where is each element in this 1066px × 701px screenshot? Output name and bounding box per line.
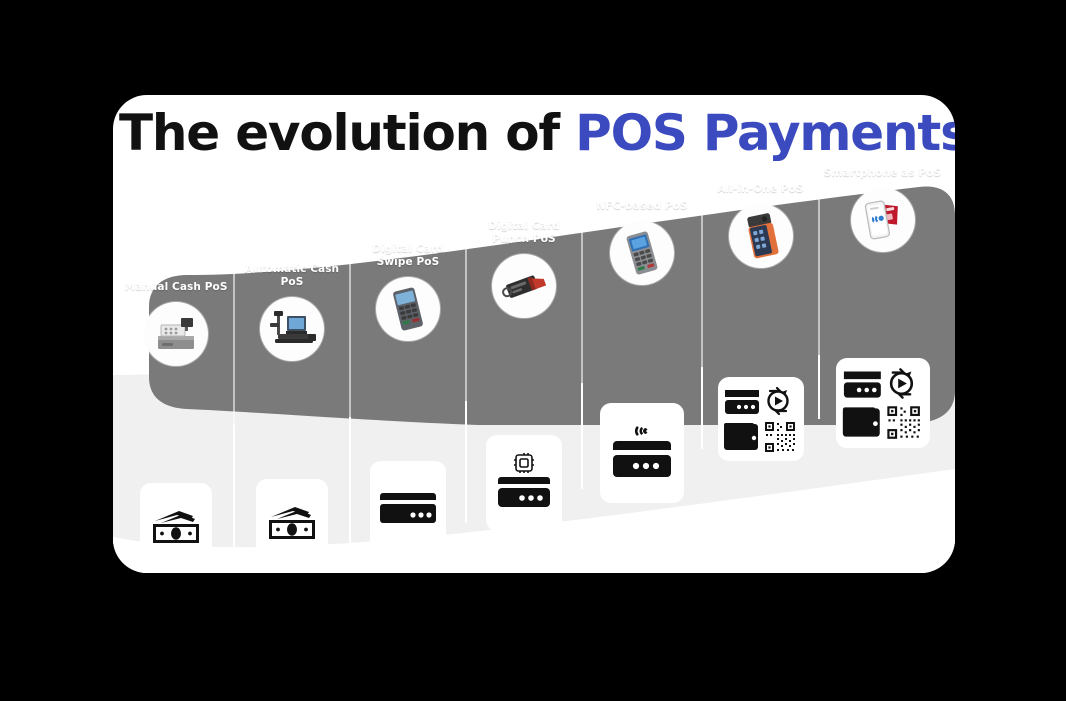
- stage-column-digital-card-punch-pos[interactable]: Digital Card Punch PoS: [467, 95, 581, 573]
- card-payment-terminal-icon: [376, 277, 440, 341]
- infographic-canvas: The evolution of POS Payments: [0, 0, 1066, 701]
- nfc-terminal-icon: [610, 221, 674, 285]
- stage-label: Manual Cash PoS: [125, 281, 228, 294]
- cash-register-icon: [144, 302, 208, 366]
- stage-columns: Manual Cash PoS: [113, 95, 955, 573]
- smartphone-nfc-icon: [851, 188, 915, 252]
- stage-column-smartphone-as-pos[interactable]: Smartphone as PoS: [820, 95, 945, 573]
- cash-banknotes-icon: [140, 483, 212, 571]
- all-in-one-handheld-icon: [729, 204, 793, 268]
- contactless-card-icon: [600, 403, 684, 503]
- stage-label: Smartphone as PoS: [824, 167, 941, 180]
- stage-label-line2: Punch PoS: [492, 233, 555, 245]
- pos-computer-terminal-icon: [260, 297, 324, 361]
- stage-label: Digital Card: [488, 220, 559, 232]
- stage-label: All-in-One PoS: [717, 183, 803, 196]
- wallet-qr-card-group-icon: [836, 358, 930, 448]
- stage-column-digital-card-swipe-pos[interactable]: Digital Card Swipe PoS: [351, 95, 465, 573]
- stage-column-automatic-cash-pos[interactable]: Automatic Cash PoS: [235, 95, 349, 573]
- stage-label: Automatic Cash PoS: [235, 263, 349, 289]
- stage-column-manual-cash-pos[interactable]: Manual Cash PoS: [119, 95, 233, 573]
- credit-card-icon: [370, 461, 446, 553]
- stage-label: Digital Card: [372, 243, 443, 255]
- wallet-qr-card-group-icon: [718, 377, 804, 461]
- stage-column-nfc-based-pos[interactable]: NFC-based PoS: [583, 95, 701, 573]
- card-reader-dongle-icon: [492, 254, 556, 318]
- cash-banknotes-icon: [256, 479, 328, 567]
- stage-label: NFC-based PoS: [596, 200, 687, 213]
- stage-label-line2: Swipe PoS: [377, 256, 440, 268]
- infographic-card: The evolution of POS Payments: [113, 95, 955, 573]
- chip-card-icon: [486, 435, 562, 531]
- stage-column-all-in-one-pos[interactable]: All-in-One PoS: [703, 95, 818, 573]
